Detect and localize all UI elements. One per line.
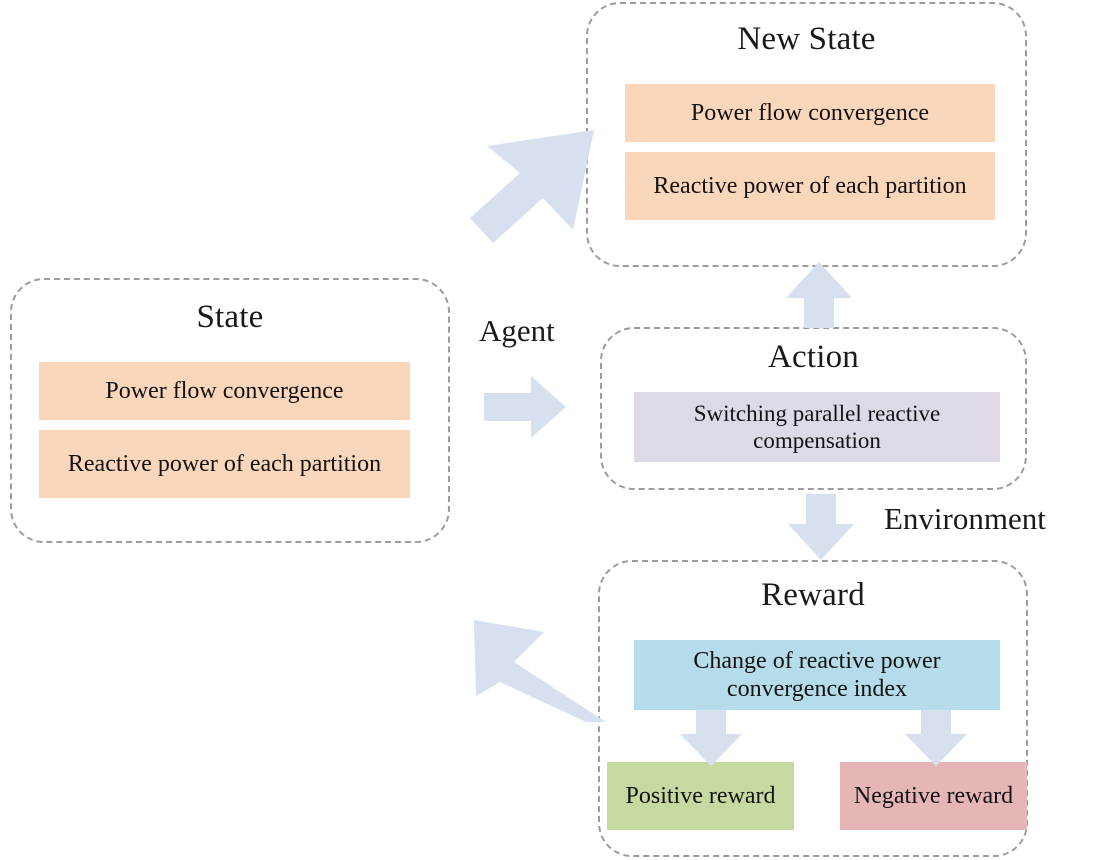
new-state-item-1: Reactive power of each partition bbox=[625, 152, 995, 220]
arrow-reward-to-state bbox=[466, 610, 606, 725]
arrow-index-to-positive bbox=[680, 710, 742, 766]
arrow-index-to-negative bbox=[905, 710, 967, 766]
agent-label: Agent bbox=[479, 313, 555, 349]
new-state-title: New State bbox=[586, 22, 1027, 57]
arrow-state-to-action bbox=[484, 376, 566, 440]
new-state-item-0: Power flow convergence bbox=[625, 84, 995, 142]
negative-reward-bar: Negative reward bbox=[840, 762, 1027, 830]
arrow-action-to-new-state bbox=[786, 262, 852, 328]
positive-reward-bar: Positive reward bbox=[607, 762, 794, 830]
environment-label: Environment bbox=[884, 501, 1046, 537]
reward-index-bar: Change of reactive power convergence ind… bbox=[634, 640, 1000, 710]
arrow-new-state-to-state bbox=[470, 118, 600, 238]
diagram-canvas: New State Power flow convergence Reactiv… bbox=[0, 0, 1101, 860]
state-item-1: Reactive power of each partition bbox=[39, 430, 410, 498]
reward-title: Reward bbox=[598, 578, 1028, 613]
state-title: State bbox=[10, 300, 450, 335]
action-title: Action bbox=[600, 340, 1027, 375]
arrow-action-to-reward bbox=[788, 494, 854, 560]
action-item-0: Switching parallel reactive compensation bbox=[634, 392, 1000, 462]
state-item-0: Power flow convergence bbox=[39, 362, 410, 420]
